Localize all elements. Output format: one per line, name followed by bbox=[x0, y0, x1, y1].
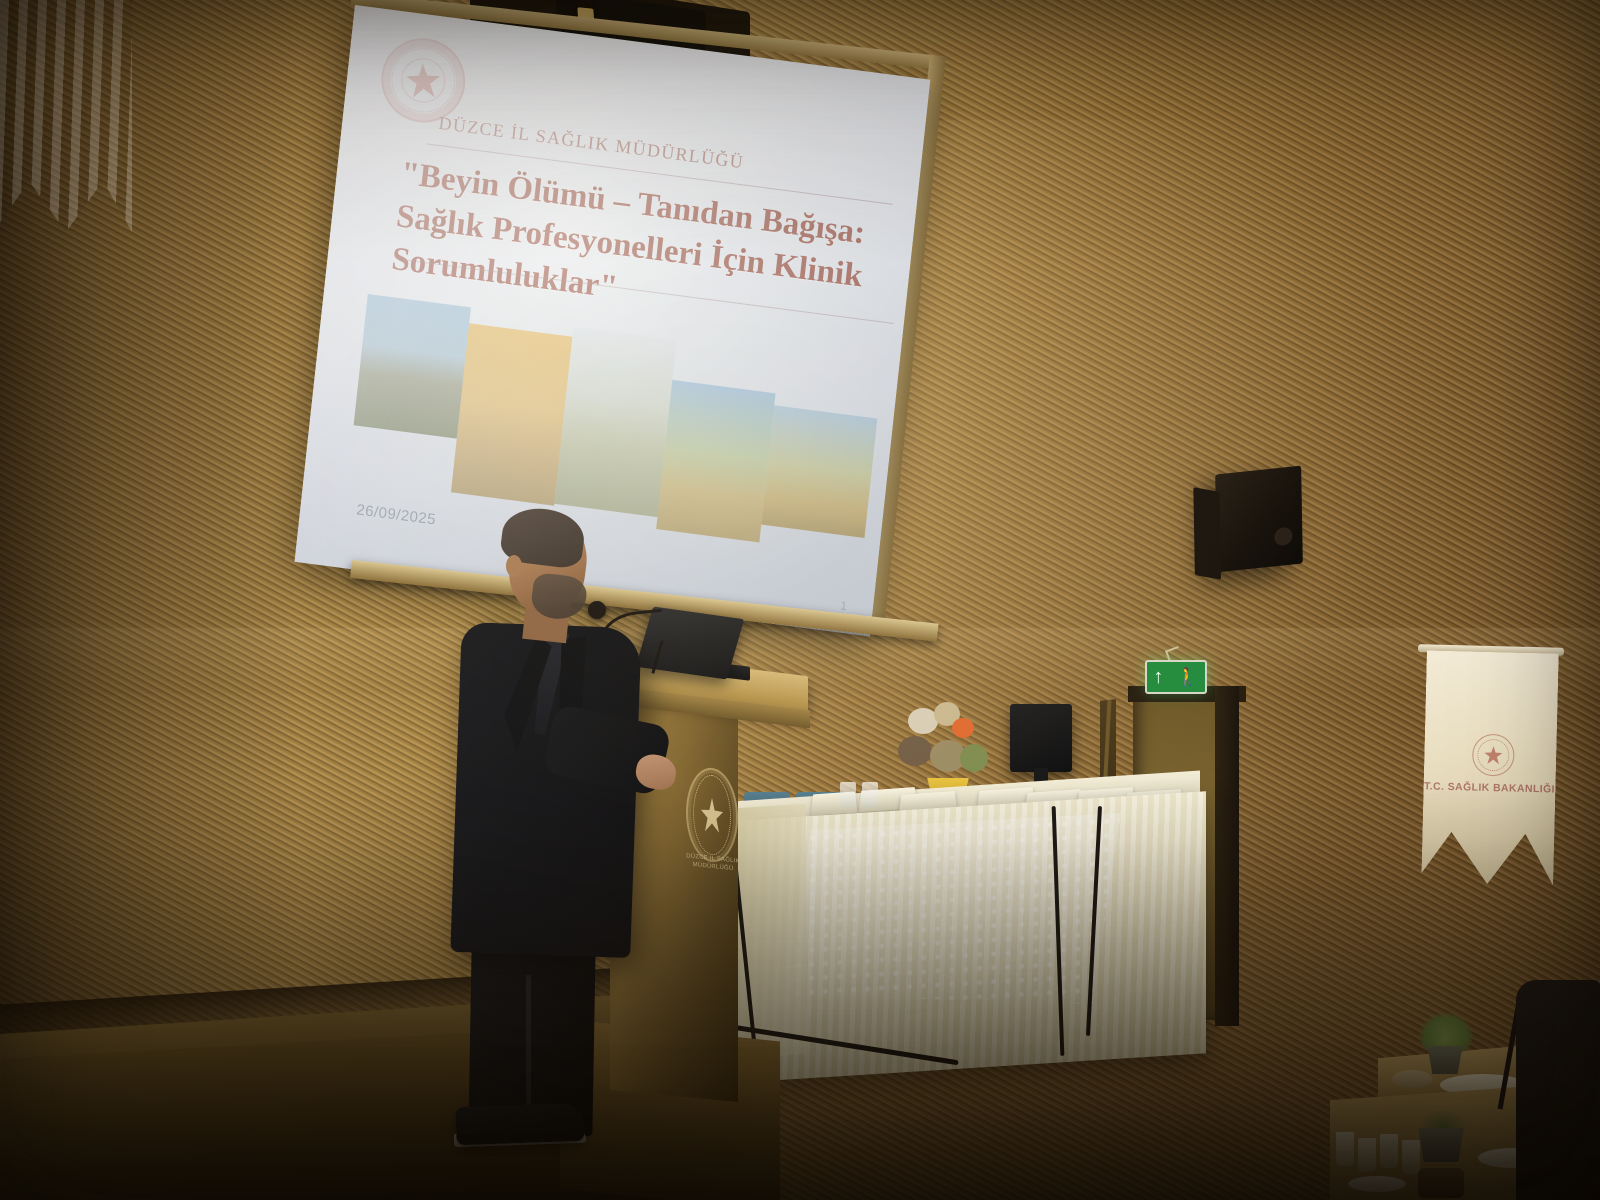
slide-date: 26/09/2025 bbox=[356, 501, 437, 528]
slide-photo-1 bbox=[354, 294, 471, 439]
flower bbox=[898, 736, 932, 766]
wall-speaker-icon bbox=[1215, 466, 1303, 573]
exit-arrow-icon: ↑ bbox=[1153, 667, 1163, 687]
slide-photo-3 bbox=[554, 327, 676, 517]
banner-emblem-icon bbox=[1472, 734, 1515, 777]
banner-star-icon bbox=[1484, 746, 1502, 764]
conference-hall-photo: DÜZCE İL SAĞLIK MÜDÜRLÜĞÜ "Beyin Ölümü –… bbox=[0, 0, 1600, 1200]
slide-photo-5 bbox=[761, 405, 877, 538]
ministry-of-health-emblem-icon bbox=[377, 33, 469, 127]
slide-photo-4 bbox=[656, 380, 775, 543]
slide-page-number: 1 bbox=[840, 598, 848, 613]
emblem-star-icon bbox=[406, 63, 441, 97]
flower bbox=[952, 718, 974, 738]
monitor bbox=[1010, 704, 1072, 772]
wall-speaker-cone bbox=[1274, 527, 1292, 547]
wall-speaker-side bbox=[1193, 487, 1221, 580]
floor-shadow bbox=[0, 780, 1600, 1200]
flower bbox=[960, 744, 988, 772]
slide-photo-2 bbox=[451, 323, 573, 505]
running-man-icon: 🚶 bbox=[1176, 668, 1198, 686]
exit-sign: ↑ 🚶 bbox=[1145, 660, 1207, 694]
floral-arrangement bbox=[890, 700, 998, 790]
presenter-ear bbox=[506, 555, 522, 577]
